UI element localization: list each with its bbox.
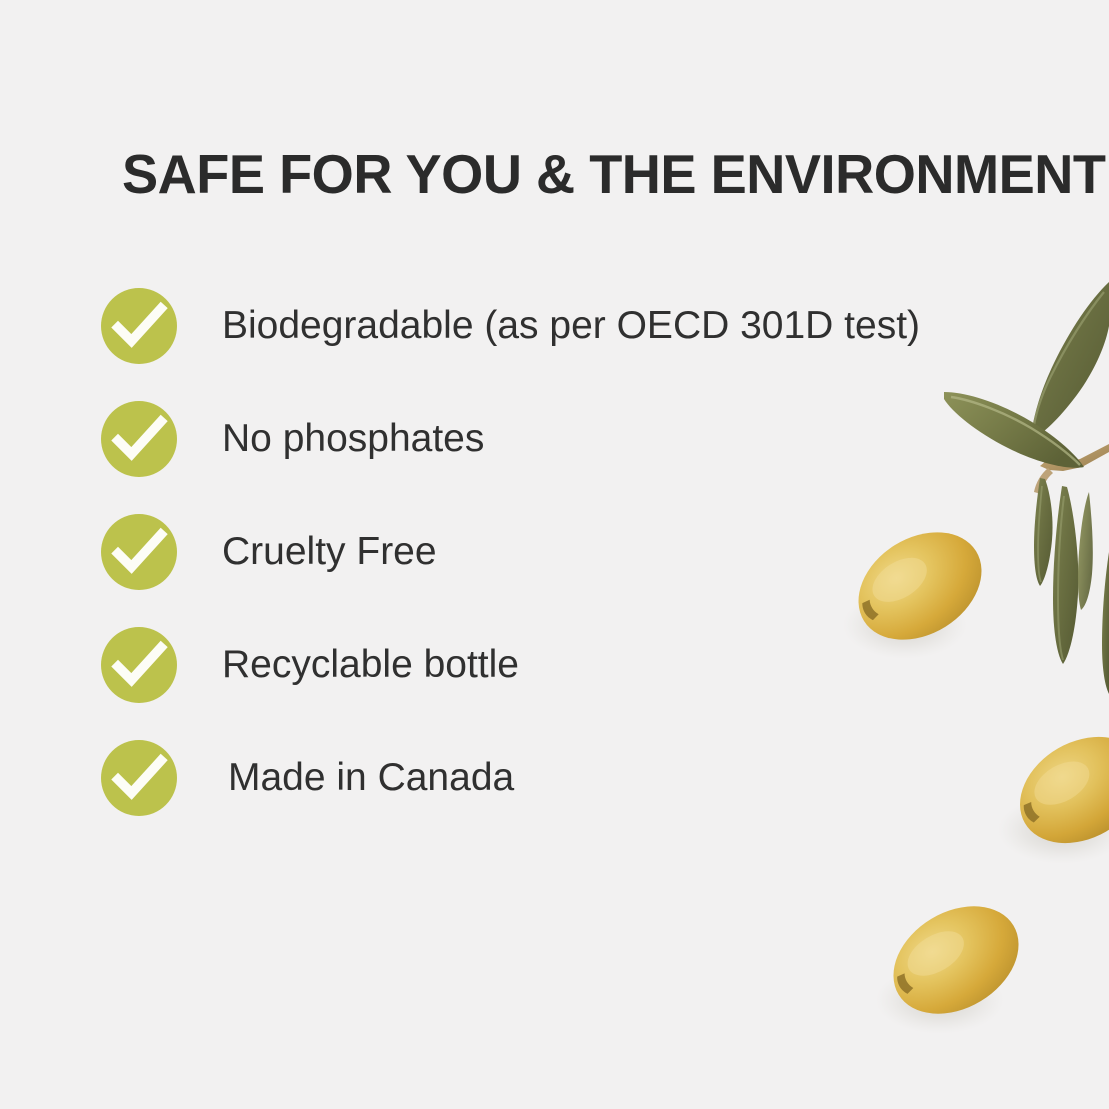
check-circle-icon [101,288,177,364]
olive-leaf-hanging-right [1078,492,1093,610]
benefit-label: Made in Canada [228,753,514,803]
benefit-item-made-in-canada: Made in Canada [101,740,1041,853]
benefit-label: Recyclable bottle [222,640,519,690]
olive-leaf-far-right [1102,552,1109,694]
benefit-item-recyclable-bottle: Recyclable bottle [101,627,1041,740]
benefit-list: Biodegradable (as per OECD 301D test) No… [101,288,1041,853]
check-circle-icon [101,740,177,816]
check-circle-icon [101,627,177,703]
olive-fruit-lower [874,884,1038,1035]
benefit-label: Cruelty Free [222,527,437,577]
olive-leaf-hanging-center [1053,486,1078,664]
benefit-label: No phosphates [222,414,484,464]
benefit-item-biodegradable: Biodegradable (as per OECD 301D test) [101,288,1041,401]
check-circle-icon [101,514,177,590]
page-title: SAFE FOR YOU & THE ENVIRONMENT [122,143,1018,205]
check-circle-icon [101,401,177,477]
benefit-item-cruelty-free: Cruelty Free [101,514,1041,627]
benefit-item-no-phosphates: No phosphates [101,401,1041,514]
olive-branch-stem [1034,444,1109,494]
olive-leaf-upper-right [1031,282,1109,440]
benefit-label: Biodegradable (as per OECD 301D test) [222,301,920,351]
promo-graphic: SAFE FOR YOU & THE ENVIRONMENT Biodegrad… [0,0,1109,1109]
